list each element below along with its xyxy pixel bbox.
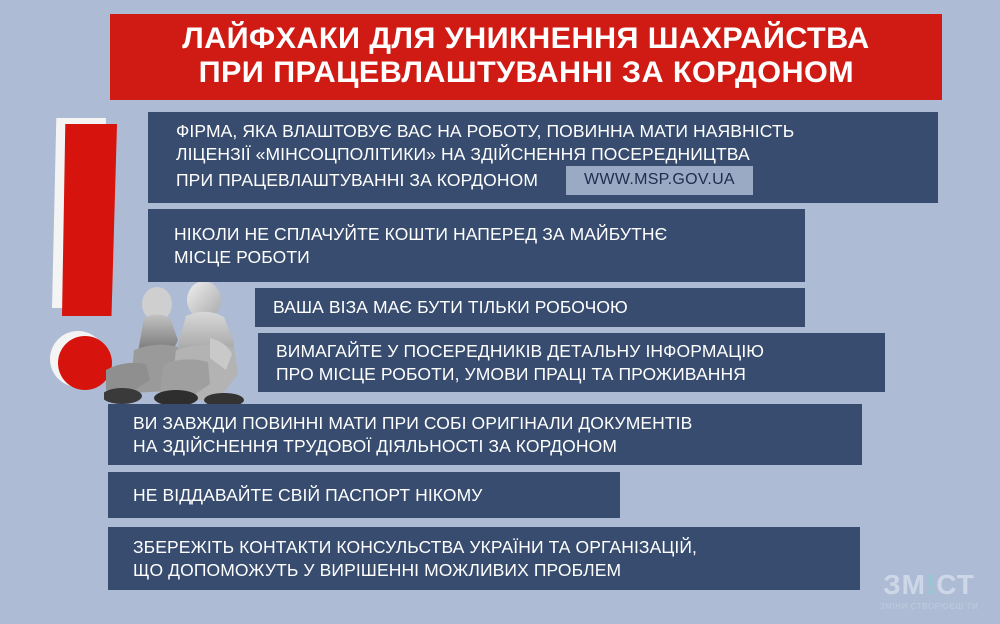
tip-bar-keep-passport: НЕ ВІДДАВАЙТЕ СВІЙ ПАСПОРТ НІКОМУ <box>108 472 620 518</box>
tip-bar-keep-originals: ВИ ЗАВЖДИ ПОВИННІ МАТИ ПРИ СОБІ ОРИГІНАЛ… <box>108 404 862 465</box>
tip-no-prepayment-line-2: МІСЦЕ РОБОТИ <box>174 246 805 269</box>
tip-license-line-2: ЛІЦЕНЗІЇ «МІНСОЦПОЛІТИКИ» НА ЗДІЙСНЕННЯ … <box>176 143 938 166</box>
watermark-name: ЗМ!СТ <box>870 570 988 600</box>
tip-bar-no-prepayment-content: НІКОЛИ НЕ СПЛАЧУЙТЕ КОШТИ НАПЕРЕД ЗА МАЙ… <box>148 223 805 269</box>
tip-license-line-3-row: ПРИ ПРАЦЕВЛАШТУВАННІ ЗА КОРДОНОМ WWW.MSP… <box>176 166 938 195</box>
watermark-logo: ЗМ!СТ ЗМІНИ СТВОРЮЄШ ТИ <box>870 570 988 612</box>
watermark-name-dot: ! <box>926 569 936 600</box>
tip-demand-details-line-1: ВИМАГАЙТЕ У ПОСЕРЕДНИКІВ ДЕТАЛЬНУ ІНФОРМ… <box>276 340 885 363</box>
tip-bar-keep-passport-content: НЕ ВІДДАВАЙТЕ СВІЙ ПАСПОРТ НІКОМУ <box>108 484 620 507</box>
tip-no-prepayment-line-1: НІКОЛИ НЕ СПЛАЧУЙТЕ КОШТИ НАПЕРЕД ЗА МАЙ… <box>174 223 805 246</box>
title-banner: ЛАЙФХАКИ ДЛЯ УНИКНЕННЯ ШАХРАЙСТВА ПРИ ПР… <box>110 14 942 100</box>
tip-keep-originals-line-1: ВИ ЗАВЖДИ ПОВИННІ МАТИ ПРИ СОБІ ОРИГІНАЛ… <box>133 412 862 435</box>
two-men-photo <box>104 278 276 406</box>
tip-bar-demand-details: ВИМАГАЙТЕ У ПОСЕРЕДНИКІВ ДЕТАЛЬНУ ІНФОРМ… <box>258 333 885 392</box>
tip-bar-keep-originals-content: ВИ ЗАВЖДИ ПОВИННІ МАТИ ПРИ СОБІ ОРИГІНАЛ… <box>108 412 862 458</box>
tip-bar-license: ФІРМА, ЯКА ВЛАШТОВУЄ ВАС НА РОБОТУ, ПОВИ… <box>148 112 938 203</box>
watermark-name-after: СТ <box>936 569 975 600</box>
tip-bar-work-visa-content: ВАША ВІЗА МАЄ БУТИ ТІЛЬКИ РОБОЧОЮ <box>255 296 805 319</box>
tip-save-contacts-line-1: ЗБЕРЕЖІТЬ КОНТАКТИ КОНСУЛЬСТВА УКРАЇНИ Т… <box>133 536 860 559</box>
tip-bar-save-contacts: ЗБЕРЕЖІТЬ КОНТАКТИ КОНСУЛЬСТВА УКРАЇНИ Т… <box>108 527 860 590</box>
tip-bar-no-prepayment: НІКОЛИ НЕ СПЛАЧУЙТЕ КОШТИ НАПЕРЕД ЗА МАЙ… <box>148 209 805 282</box>
tip-bar-demand-details-content: ВИМАГАЙТЕ У ПОСЕРЕДНИКІВ ДЕТАЛЬНУ ІНФОРМ… <box>258 340 885 386</box>
tip-bar-work-visa: ВАША ВІЗА МАЄ БУТИ ТІЛЬКИ РОБОЧОЮ <box>255 288 805 327</box>
tip-license-line-1: ФІРМА, ЯКА ВЛАШТОВУЄ ВАС НА РОБОТУ, ПОВИ… <box>176 120 938 143</box>
tip-work-visa-line-1: ВАША ВІЗА МАЄ БУТИ ТІЛЬКИ РОБОЧОЮ <box>273 296 805 319</box>
watermark-tagline: ЗМІНИ СТВОРЮЄШ ТИ <box>870 601 988 612</box>
tip-license-line-3: ПРИ ПРАЦЕВЛАШТУВАННІ ЗА КОРДОНОМ <box>176 169 538 192</box>
infographic-canvas: ЛАЙФХАКИ ДЛЯ УНИКНЕННЯ ШАХРАЙСТВА ПРИ ПР… <box>0 0 1000 624</box>
title-line-2: ПРИ ПРАЦЕВЛАШТУВАННІ ЗА КОРДОНОМ <box>198 56 854 90</box>
tip-bar-save-contacts-content: ЗБЕРЕЖІТЬ КОНТАКТИ КОНСУЛЬСТВА УКРАЇНИ Т… <box>108 536 860 582</box>
watermark-name-before: ЗМ <box>883 569 926 600</box>
tip-keep-originals-line-2: НА ЗДІЙСНЕННЯ ТРУДОВОЇ ДІЯЛЬНОСТІ ЗА КОР… <box>133 435 862 458</box>
tip-demand-details-line-2: ПРО МІСЦЕ РОБОТИ, УМОВИ ПРАЦІ ТА ПРОЖИВА… <box>276 363 885 386</box>
msp-website-badge[interactable]: WWW.MSP.GOV.UA <box>566 166 753 195</box>
tip-bar-license-content: ФІРМА, ЯКА ВЛАШТОВУЄ ВАС НА РОБОТУ, ПОВИ… <box>148 120 938 195</box>
tip-save-contacts-line-2: ЩО ДОПОМОЖУТЬ У ВИРІШЕННІ МОЖЛИВИХ ПРОБЛ… <box>133 559 860 582</box>
title-line-1: ЛАЙФХАКИ ДЛЯ УНИКНЕННЯ ШАХРАЙСТВА <box>182 22 869 56</box>
tip-keep-passport-line-1: НЕ ВІДДАВАЙТЕ СВІЙ ПАСПОРТ НІКОМУ <box>133 484 620 507</box>
